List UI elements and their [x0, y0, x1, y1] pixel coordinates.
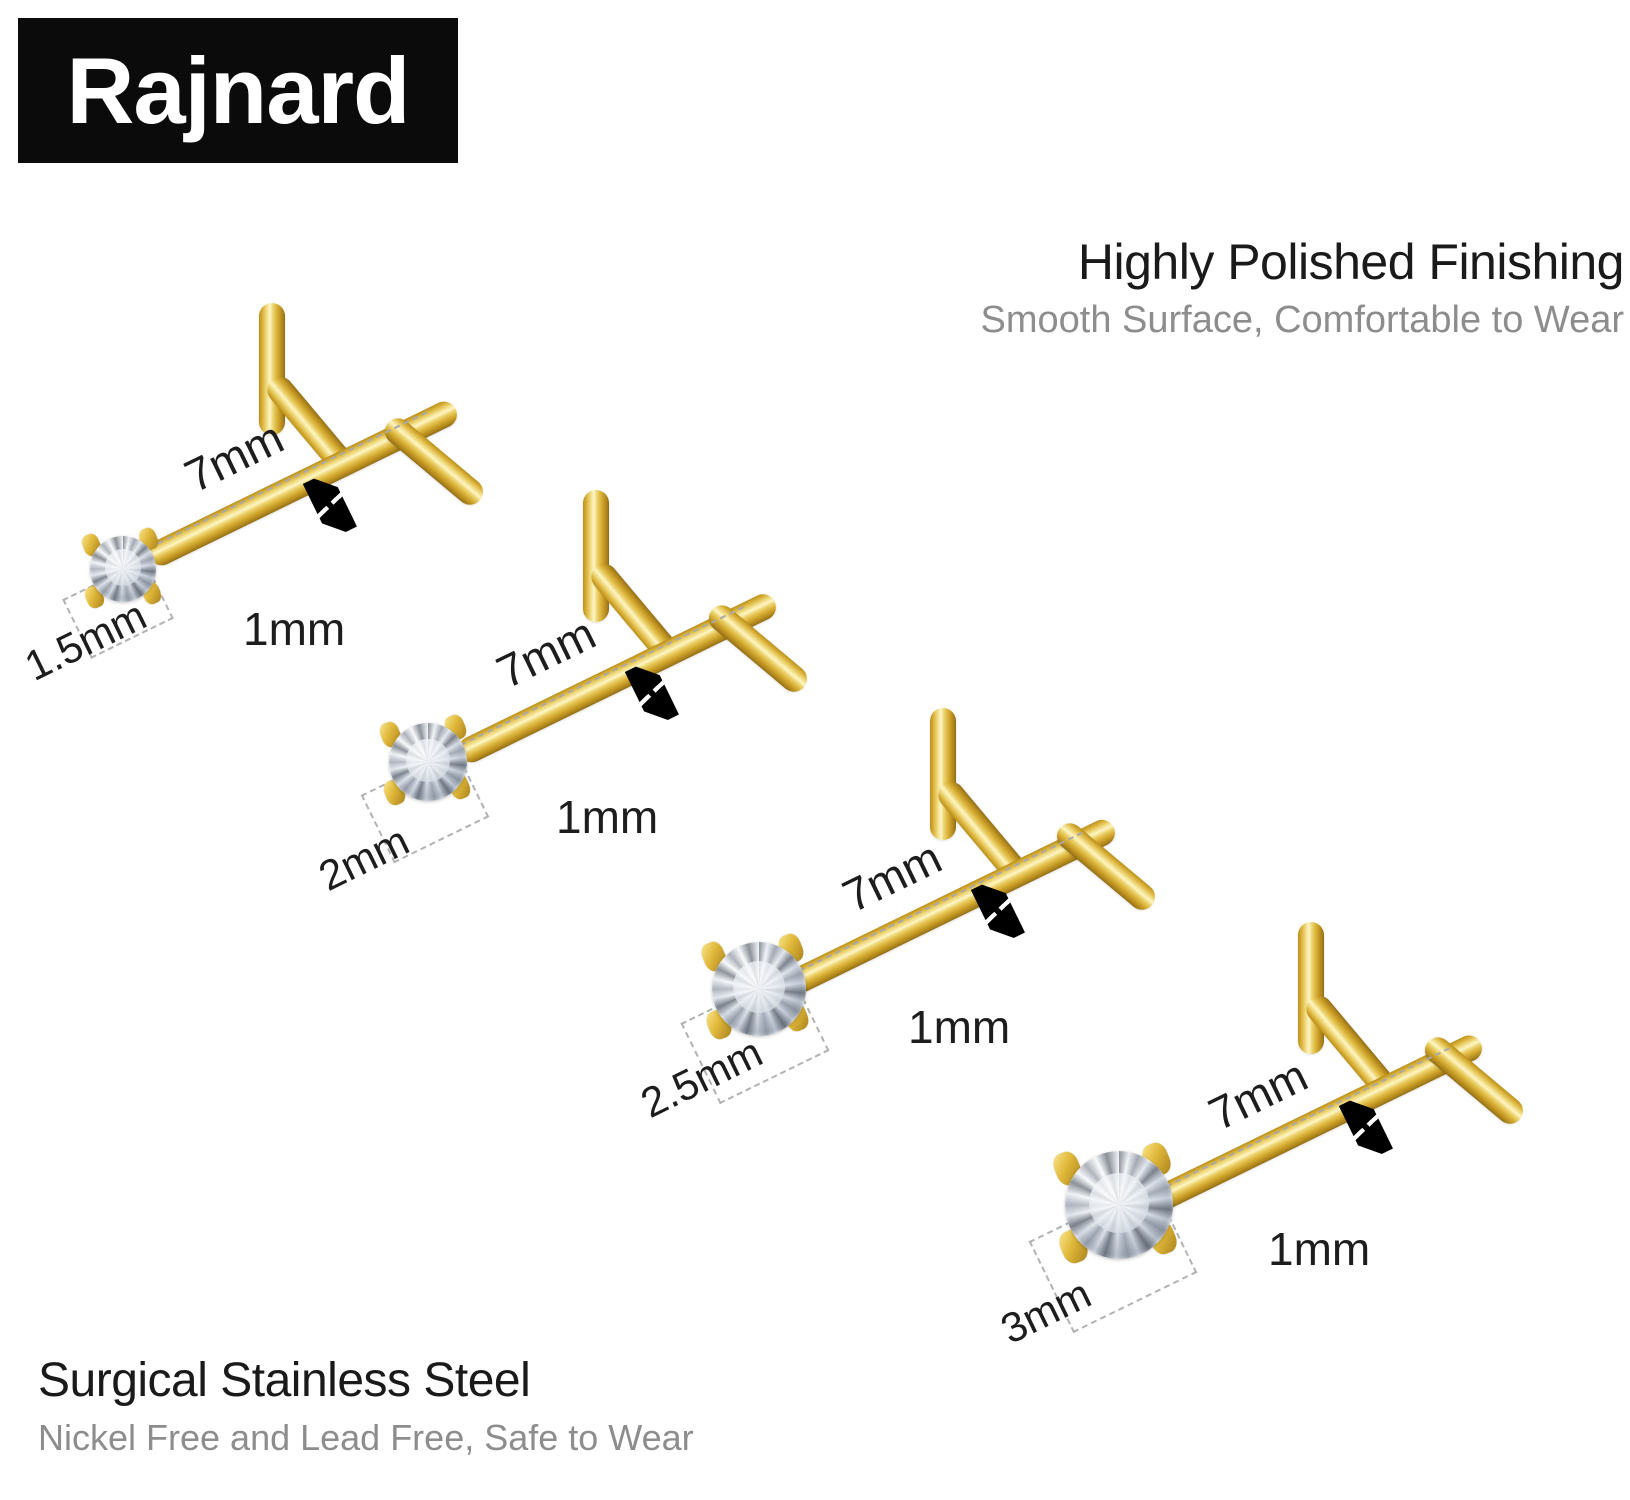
headline-top-title: Highly Polished Finishing	[981, 236, 1624, 289]
headline-top-subtitle: Smooth Surface, Comfortable to Wear	[981, 298, 1624, 344]
brand-name: Rajnard	[67, 44, 410, 138]
headline-bottom-title: Surgical Stainless Steel	[38, 1356, 694, 1406]
stud-4-upper-arm	[1298, 922, 1324, 1054]
double-arrow-icon	[303, 471, 357, 540]
stud-1-gauge-arrow	[303, 471, 359, 544]
stud-3-gauge-label: 1mm	[908, 1000, 1010, 1054]
stud-1-gem	[90, 536, 156, 602]
headline-bottom: Surgical Stainless Steel Nickel Free and…	[38, 1356, 694, 1460]
stud-3-upper-arm	[930, 708, 956, 840]
headline-top: Highly Polished Finishing Smooth Surface…	[981, 236, 1624, 343]
stud-2-gem	[389, 723, 467, 801]
stud-4-gauge-arrow	[1339, 1093, 1395, 1166]
stud-4-gauge-label: 1mm	[1268, 1222, 1370, 1276]
stud-2-gauge-arrow	[625, 659, 681, 732]
stud-2-gem-label: 2mm	[311, 817, 416, 901]
stud-2-upper-arm	[583, 490, 609, 622]
stud-2-gauge-label: 1mm	[556, 790, 658, 844]
stud-2-length-dashline	[442, 606, 744, 755]
stud-3-gem	[712, 942, 806, 1036]
stud-4-gem	[1065, 1151, 1173, 1259]
brand-logo: Rajnard	[18, 18, 458, 163]
headline-bottom-subtitle: Nickel Free and Lead Free, Safe to Wear	[38, 1416, 694, 1459]
stud-4-gem-label: 3mm	[993, 1270, 1098, 1354]
double-arrow-icon	[625, 659, 679, 728]
product-infographic: Rajnard Highly Polished Finishing Smooth…	[0, 0, 1630, 1500]
stud-1-gauge-label: 1mm	[243, 602, 345, 656]
